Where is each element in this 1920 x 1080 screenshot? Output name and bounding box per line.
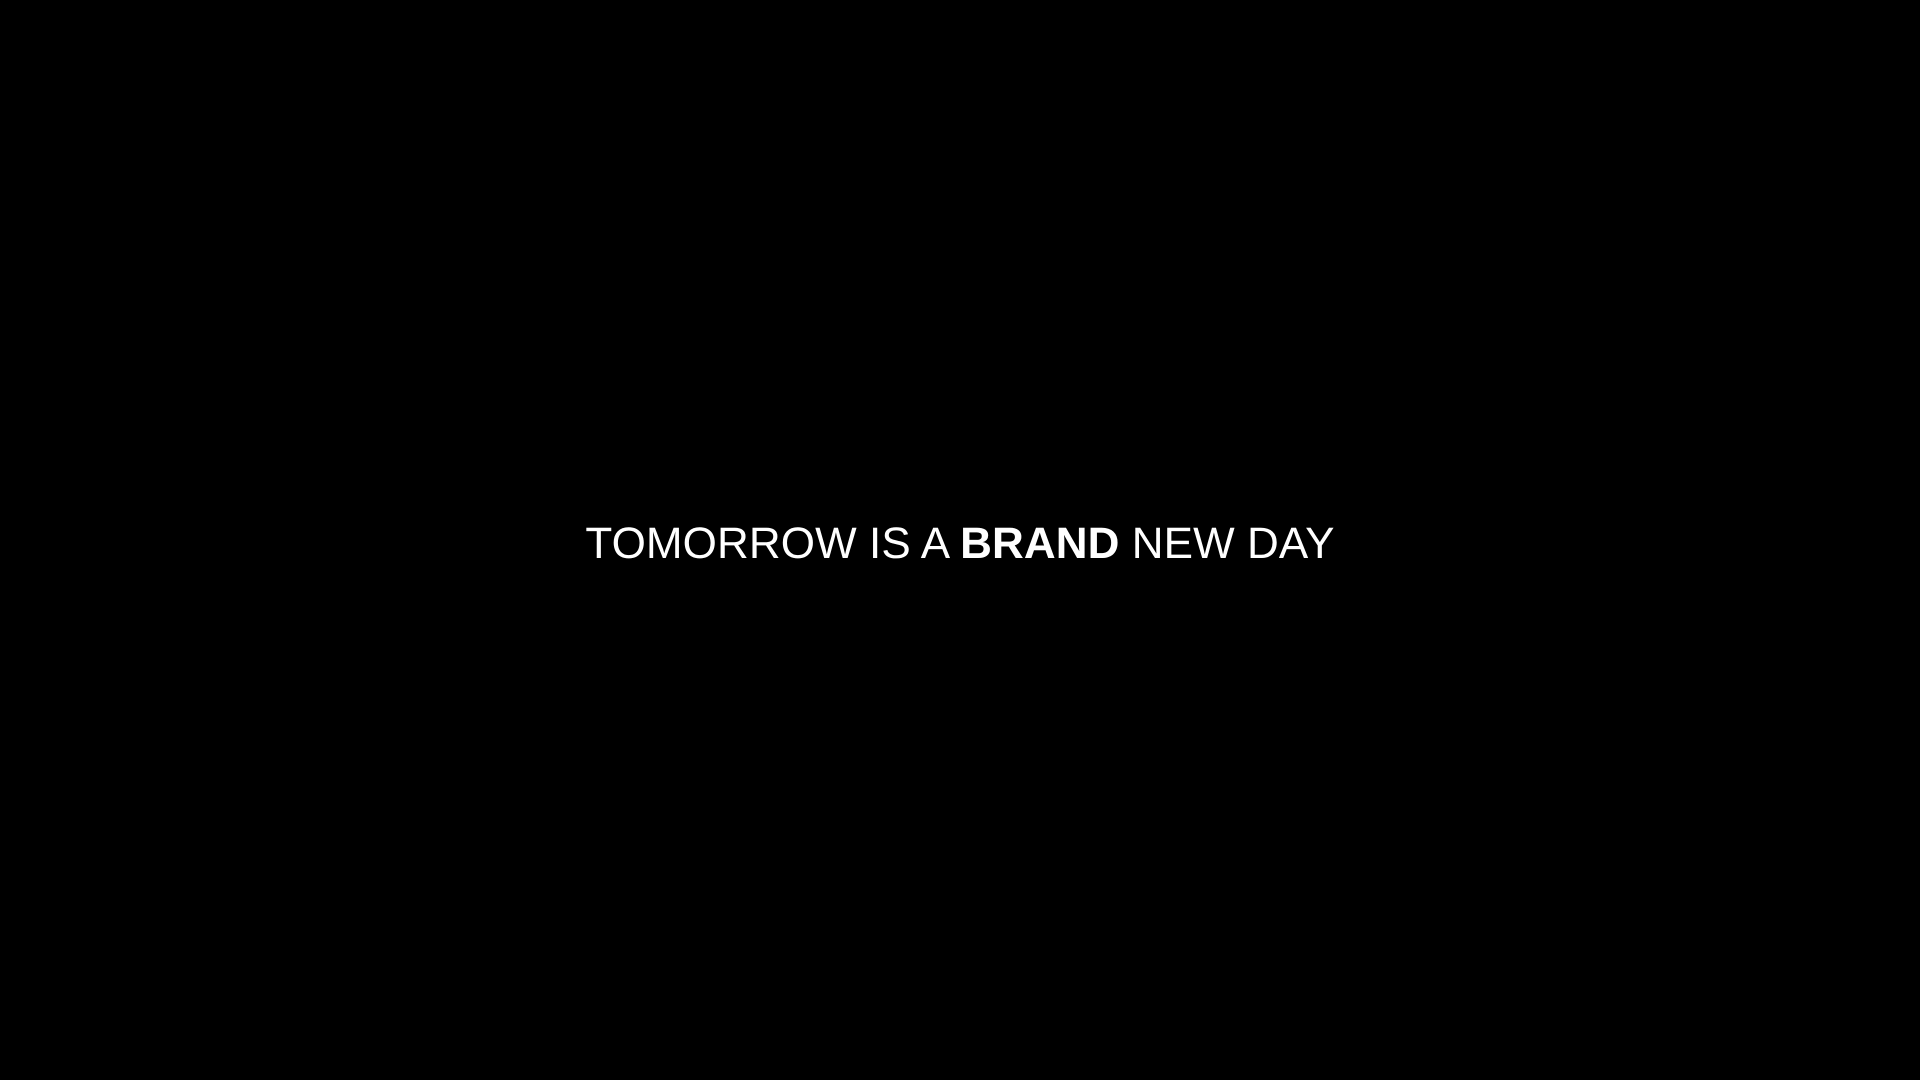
quote-segment-trail: NEW DAY <box>1119 519 1334 568</box>
quote-segment-emphasis: BRAND <box>960 519 1119 568</box>
quote-segment-lead: TOMORROW IS A <box>585 519 960 568</box>
quote-block: TOMORROW IS A BRAND NEW DAY <box>0 0 1920 1080</box>
wallpaper-canvas: TOMORROW IS A BRAND NEW DAY <box>0 0 1920 1080</box>
quote-line: TOMORROW IS A BRAND NEW DAY <box>585 522 1334 566</box>
